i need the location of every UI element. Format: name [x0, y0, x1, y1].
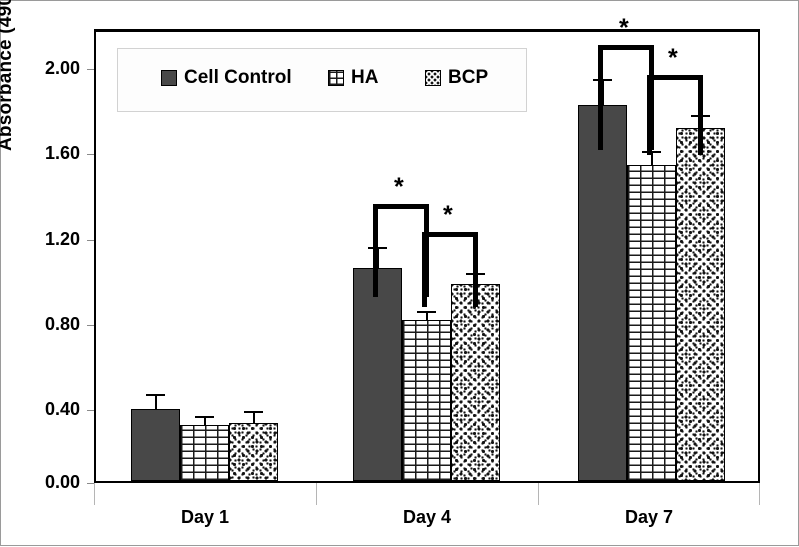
legend: Cell Control HA BCP: [117, 48, 527, 112]
legend-item-ha: HA: [328, 68, 378, 87]
bar-day4-bcp: [451, 284, 500, 481]
significance-bracket-day4-cc-ha-left-leg: [373, 204, 429, 234]
legend-swatch-dots-icon: [425, 70, 441, 86]
significance-star-day4-ha-bcp: *: [443, 203, 453, 228]
y-tick-label: 0.40: [45, 399, 80, 420]
x-axis: Day 1 Day 4 Day 7: [94, 483, 760, 547]
x-label-day-7: Day 7: [538, 507, 760, 528]
y-tick-mark: [87, 240, 94, 241]
y-tick-mark: [87, 325, 94, 326]
y-tick-label: 1.20: [45, 229, 80, 250]
y-tick-label: 0.80: [45, 314, 80, 335]
significance-star-day4-cc-ha: *: [394, 175, 404, 200]
x-tick-mark: [759, 483, 760, 505]
x-label-day-1: Day 1: [94, 507, 316, 528]
errorbar-cap-day4-ha: [417, 311, 436, 313]
errorbar-cap-day1-cell-control: [146, 394, 165, 396]
significance-bracket-day4-ha-bcp: [422, 232, 478, 307]
errorbar-cap-day1-ha: [195, 416, 214, 418]
legend-label: Cell Control: [184, 68, 292, 87]
errorbar-cap-day1-bcp: [244, 411, 263, 413]
errorbar-day4-ha: [426, 313, 428, 320]
significance-bracket-day7-ha-bcp: [647, 75, 703, 155]
legend-item-cell-control: Cell Control: [161, 68, 292, 87]
x-tick-mark: [538, 483, 539, 505]
bar-day7-bcp: [676, 128, 725, 481]
y-tick-label: 2.00: [45, 58, 80, 79]
significance-bracket-day7-cc-ha: [598, 45, 654, 150]
figure-container: 2.00 1.60 1.20 0.80 0.40 0.00 Absorbance…: [0, 0, 799, 546]
bar-day1-cell-control: [131, 409, 180, 481]
errorbar-day1-bcp: [253, 413, 255, 423]
plot-area: Cell Control HA BCP: [94, 29, 760, 483]
y-tick-mark: [87, 69, 94, 70]
y-axis-title: Absorbance (490 nm): [0, 0, 17, 151]
bar-day7-ha: [627, 165, 676, 481]
legend-label: HA: [351, 68, 378, 87]
bar-day1-ha: [180, 425, 229, 481]
significance-star-day7-ha-bcp: *: [668, 46, 678, 71]
legend-label: BCP: [448, 68, 488, 87]
x-tick-mark: [94, 483, 95, 505]
y-tick-label: 0.00: [45, 472, 80, 493]
y-tick-label: 1.60: [45, 143, 80, 164]
bar-day1-bcp: [229, 423, 278, 481]
bar-day7-cell-control: [578, 105, 627, 481]
legend-swatch-solid-icon: [161, 70, 177, 86]
bar-day4-ha: [402, 320, 451, 481]
significance-star-day7-cc-ha: *: [619, 16, 629, 41]
x-tick-mark: [316, 483, 317, 505]
y-tick-mark: [87, 154, 94, 155]
errorbar-day1-ha: [204, 418, 206, 425]
x-label-day-4: Day 4: [316, 507, 538, 528]
y-tick-mark: [87, 483, 94, 484]
y-tick-mark: [87, 410, 94, 411]
legend-swatch-brick-icon: [328, 70, 344, 86]
legend-item-bcp: BCP: [425, 68, 488, 87]
errorbar-day1-cell-control: [155, 396, 157, 409]
bar-day4-cell-control: [353, 268, 402, 481]
